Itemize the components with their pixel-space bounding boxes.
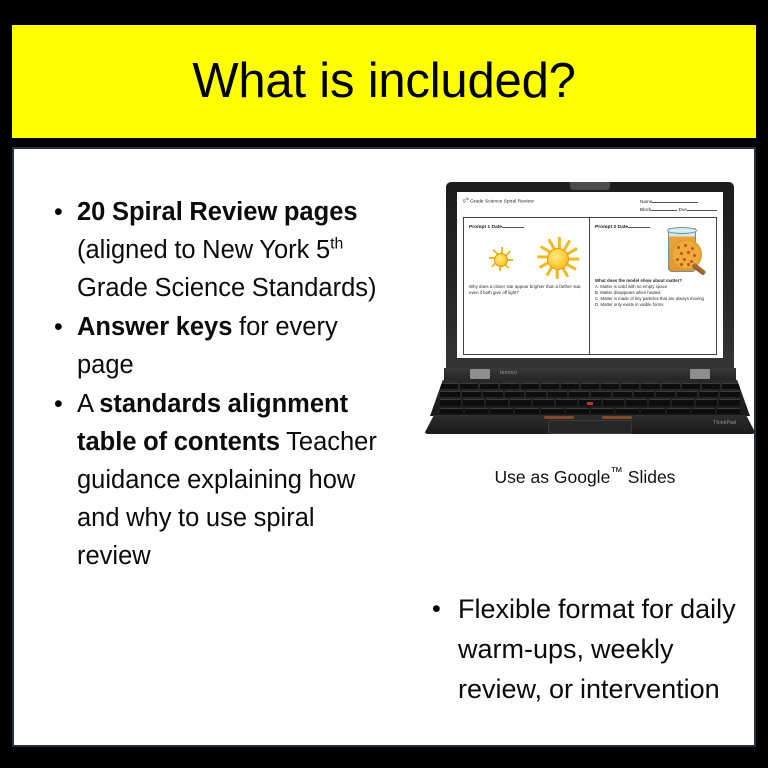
prompt-1-question: Why does a closer star appear brighter t… <box>469 284 584 296</box>
prompt-1-date-line <box>502 222 524 228</box>
worksheet-header: 5th Grade Science Spiral Review Name Blo… <box>463 197 717 213</box>
laptop-screen: 5th Grade Science Spiral Review Name Blo… <box>457 192 723 358</box>
name-field-label: Name <box>640 199 652 204</box>
list-item: • A standards alignment table of content… <box>44 385 392 575</box>
block-due-field-row: Block Due <box>640 205 717 213</box>
trackpoint-icon <box>587 402 593 405</box>
ordinal-suffix: th <box>330 236 343 253</box>
laptop-palmrest: ThinkPad <box>424 415 756 434</box>
worksheet-prompt-table: Prompt 1 Date <box>463 217 717 355</box>
bullet-2-bold: Answer keys <box>77 313 232 341</box>
large-sun-icon <box>535 236 579 280</box>
list-item: • Answer keys for every page <box>44 308 392 384</box>
bullet-icon: • <box>54 308 63 346</box>
bullet-3-lead: A <box>77 390 99 418</box>
block-field-label: Block <box>640 207 651 212</box>
list-item-text: Flexible format for daily warm-ups, week… <box>458 594 736 704</box>
right-column: 5th Grade Science Spiral Review Name Blo… <box>412 149 756 745</box>
prompt-2-date-line <box>628 222 650 228</box>
laptop-lid: 5th Grade Science Spiral Review Name Blo… <box>446 182 734 370</box>
list-item-text: 20 Spiral Review pages (aligned to New Y… <box>77 198 377 302</box>
touchpad <box>548 420 632 434</box>
google-slides-caption: Use as Google™ Slides <box>412 465 756 488</box>
list-item-text: Answer keys for every page <box>77 313 338 379</box>
bullet-1-bold: 20 Spiral Review pages <box>77 198 358 226</box>
feature-bullet-list: • 20 Spiral Review pages (aligned to New… <box>44 193 392 576</box>
glass-rim <box>667 227 697 234</box>
thinkpad-logo: ThinkPad <box>713 420 736 426</box>
prompt-1-cell: Prompt 1 Date <box>464 218 590 354</box>
due-field-label: Due <box>679 207 687 212</box>
bullet-icon: • <box>54 385 63 423</box>
worksheet-fields: Name Block Due <box>640 197 717 213</box>
name-field-line <box>652 197 698 203</box>
key-row <box>440 408 740 414</box>
trackpad-button-left <box>544 416 574 419</box>
laptop-illustration: 5th Grade Science Spiral Review Name Blo… <box>422 182 756 434</box>
slide-canvas: What is included? • 20 Spiral Review pag… <box>0 0 768 768</box>
webcam-icon <box>570 182 610 190</box>
hinge-right <box>690 369 710 379</box>
hinge-left <box>470 369 490 379</box>
block-field-line <box>651 205 677 211</box>
caption-lead: Use as Google <box>495 467 611 487</box>
glass-magnifier-illustration <box>660 226 710 278</box>
laptop-base: lenovo <box>422 368 756 434</box>
key-row <box>440 391 740 397</box>
list-item: • 20 Spiral Review pages (aligned to New… <box>44 193 392 307</box>
due-field-line <box>687 205 717 211</box>
laptop-keyboard <box>430 380 750 416</box>
bullet-icon: • <box>432 589 441 629</box>
name-field-row: Name <box>640 197 717 205</box>
page-title: What is included? <box>192 57 575 106</box>
worksheet-title: 5th Grade Science Spiral Review <box>463 197 534 205</box>
worksheet-preview: 5th Grade Science Spiral Review Name Blo… <box>457 192 723 358</box>
title-banner: What is included? <box>12 25 756 138</box>
caption-tail: Slides <box>623 467 676 487</box>
prompt-2-cell: Prompt 2 Date <box>590 218 716 354</box>
list-item: • Flexible format for daily warm-ups, we… <box>420 589 756 709</box>
content-panel: • 20 Spiral Review pages (aligned to New… <box>12 147 756 747</box>
prompt-1-label: Prompt 1 Date <box>469 222 584 230</box>
sun-illustrations <box>469 234 584 276</box>
prompt-2-choice: D. Matter only exists in visible forms <box>595 302 711 308</box>
bullet-icon: • <box>54 193 63 231</box>
trademark-symbol: ™ <box>610 465 623 479</box>
trackpad-button-right <box>602 416 632 419</box>
worksheet-title-rest: Grade Science Spiral Review <box>469 200 534 205</box>
key-row <box>440 383 740 389</box>
bullet-1-tail: Grade Science Standards) <box>77 274 377 302</box>
bullet-1-mid: (aligned to New York 5 <box>77 236 330 264</box>
laptop-hinge-bar: lenovo <box>444 368 736 381</box>
list-item-text: A standards alignment table of contents … <box>77 390 377 570</box>
lenovo-logo: lenovo <box>500 370 517 376</box>
small-sun-icon <box>487 246 513 272</box>
